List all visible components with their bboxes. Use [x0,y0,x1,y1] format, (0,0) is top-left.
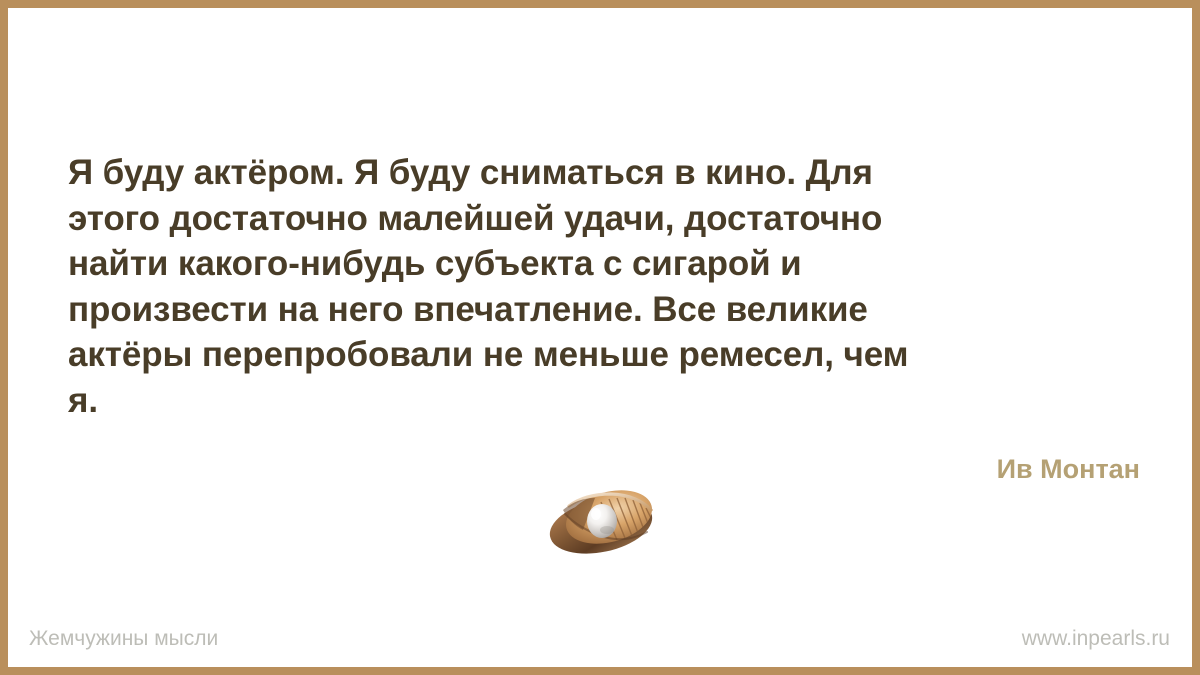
site-url[interactable]: www.inpearls.ru [1022,627,1170,651]
quote-line: найти какого-нибудь субъекта с сигарой и [68,241,1146,287]
oyster-shell-with-pearl-icon [539,484,669,556]
site-name: Жемчужины мысли [29,627,218,651]
quote-author: Ив Монтан [997,454,1140,485]
quote-card: Я буду актёром. Я буду сниматься в кино.… [8,8,1192,667]
quote-line: этого достаточно малейшей удачи, достато… [68,196,1146,242]
quote-line: Я буду актёром. Я буду сниматься в кино.… [68,150,1146,196]
quote-line: актёры перепробовали не меньше ремесел, … [68,332,1146,378]
quote-line: произвести на него впечатление. Все вели… [68,287,1146,333]
quote-text: Я буду актёром. Я буду сниматься в кино.… [68,150,1146,423]
quote-line: я. [68,378,1146,424]
